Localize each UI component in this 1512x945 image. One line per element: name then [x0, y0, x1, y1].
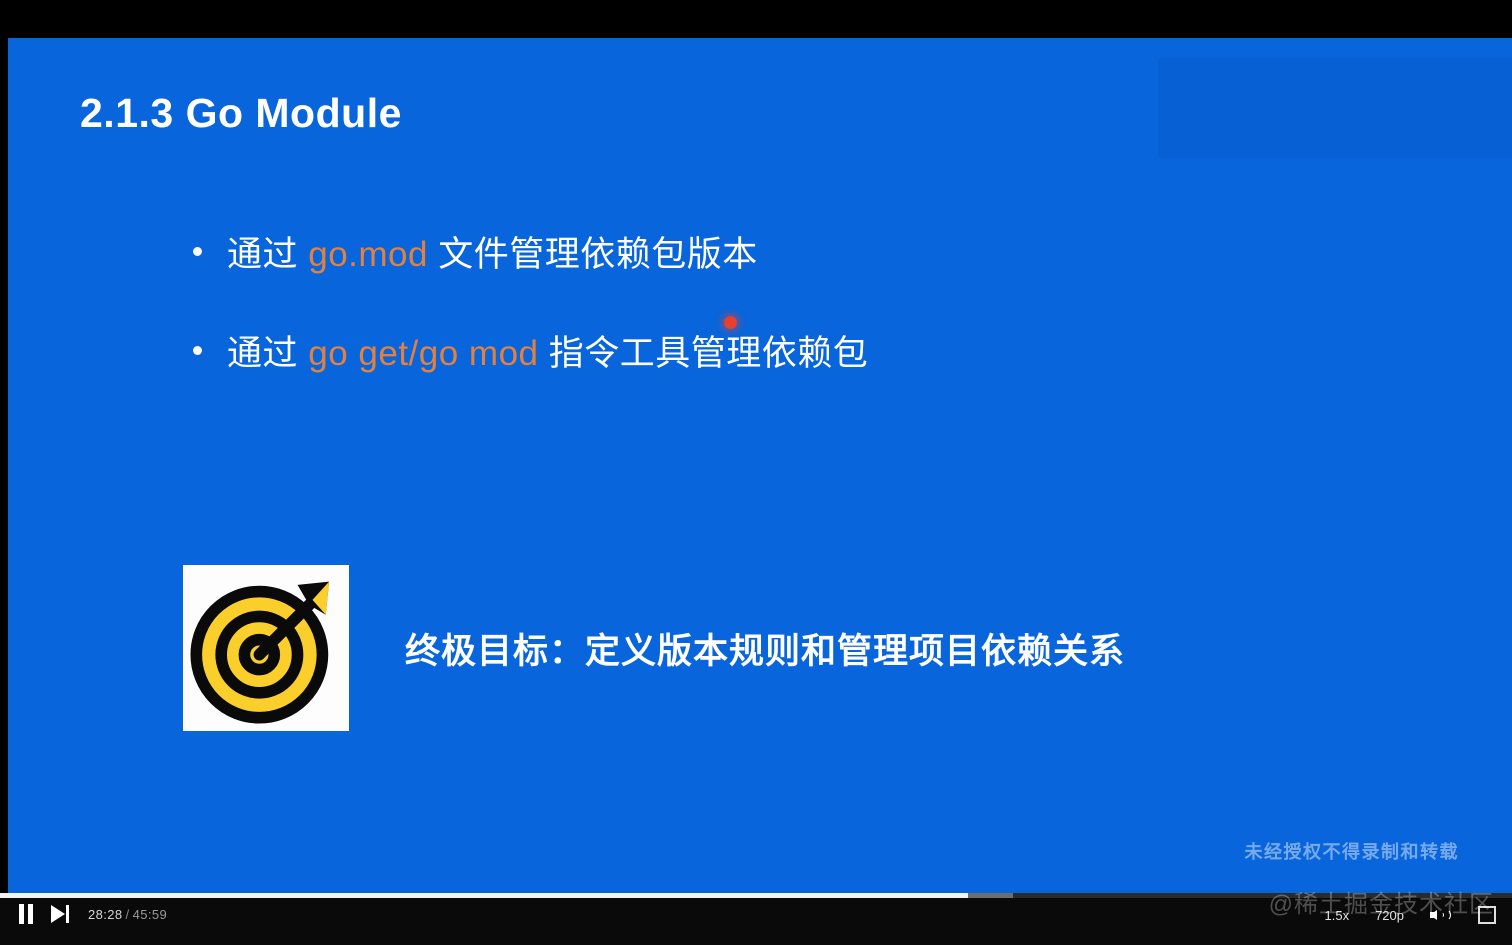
- laser-pointer-dot: [724, 316, 737, 329]
- playback-speed-button[interactable]: 1.5x: [1325, 908, 1350, 923]
- compression-artifact-block: [1158, 58, 1512, 158]
- bullet-item-2: 通过 go get/go mod 指令工具管理依赖包: [193, 325, 1293, 376]
- bullet-1-code: go.mod: [308, 235, 428, 274]
- bullet-1-prefix: 通过: [227, 235, 308, 274]
- bullet-2-code: go get/go mod: [308, 334, 538, 373]
- bullet-1-suffix: 文件管理依赖包版本: [428, 235, 758, 274]
- progress-played: [0, 893, 968, 898]
- fullscreen-icon[interactable]: [1478, 906, 1496, 924]
- current-time: 28:28: [88, 907, 123, 922]
- volume-icon[interactable]: [1430, 906, 1452, 924]
- time-separator: /: [126, 907, 130, 922]
- progress-bar[interactable]: [0, 893, 1512, 898]
- player-controls-left: 28:28/45:59: [18, 904, 167, 924]
- bullet-dot-icon: [193, 247, 202, 256]
- quality-button[interactable]: 720p: [1375, 908, 1404, 923]
- bullet-list: 通过 go.mod 文件管理依赖包版本 通过 go get/go mod 指令工…: [193, 226, 1293, 424]
- next-track-icon[interactable]: [51, 905, 70, 923]
- bullet-item-2-text: 通过 go get/go mod 指令工具管理依赖包: [227, 325, 868, 376]
- video-player: 2.1.3 Go Module 通过 go.mod 文件管理依赖包版本 通过 g…: [0, 0, 1512, 945]
- bullet-item-1: 通过 go.mod 文件管理依赖包版本: [193, 226, 1293, 277]
- total-time: 45:59: [133, 907, 168, 922]
- bullet-2-prefix: 通过: [227, 334, 308, 373]
- time-display: 28:28/45:59: [88, 907, 167, 922]
- slide-title: 2.1.3 Go Module: [80, 90, 402, 137]
- player-controls-right: 1.5x 720p: [1325, 906, 1499, 924]
- bullet-2-suffix: 指令工具管理依赖包: [539, 334, 869, 373]
- player-control-bar: 28:28/45:59 1.5x 720p @稀土掘金技术社区: [0, 893, 1512, 945]
- goal-row: 终极目标：定义版本规则和管理项目依赖关系: [183, 565, 1125, 731]
- copyright-watermark: 未经授权不得录制和转载: [1245, 838, 1460, 864]
- bullet-item-1-text: 通过 go.mod 文件管理依赖包版本: [227, 226, 758, 277]
- bullet-dot-icon: [193, 346, 202, 355]
- target-icon: [183, 565, 349, 731]
- pause-icon[interactable]: [18, 904, 34, 924]
- slide-canvas: 2.1.3 Go Module 通过 go.mod 文件管理依赖包版本 通过 g…: [8, 38, 1512, 893]
- goal-text: 终极目标：定义版本规则和管理项目依赖关系: [405, 623, 1125, 674]
